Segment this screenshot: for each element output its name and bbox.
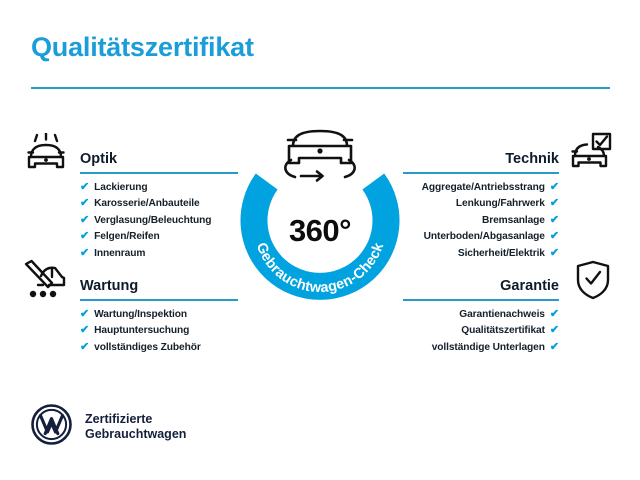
list-item: Sicherheit/Elektrik ✔ <box>422 245 559 262</box>
list-item-label: Verglasung/Beleuchtung <box>94 215 211 226</box>
shield-check-icon <box>576 260 610 305</box>
section-wartung: Wartung ✔ Wartung/Inspektion ✔ Hauptunte… <box>80 272 238 298</box>
check-icon: ✔ <box>550 198 559 209</box>
certificate-page: Qualitätszertifikat <box>0 0 640 480</box>
list-item-label: vollständiges Zubehör <box>94 342 201 353</box>
list-item-label: Wartung/Inspektion <box>94 309 187 320</box>
checklist-optik: ✔ Lackierung ✔ Karosserie/Anbauteile ✔ V… <box>80 179 211 262</box>
section-header: Technik <box>403 145 559 171</box>
check-icon: ✔ <box>80 248 89 259</box>
section-divider <box>80 172 238 174</box>
list-item: ✔ Wartung/Inspektion <box>80 306 201 323</box>
car-service-dipstick-icon <box>22 259 68 306</box>
car-checkbox-icon <box>567 132 613 179</box>
section-divider <box>80 299 238 301</box>
check-icon: ✔ <box>80 215 89 226</box>
check-icon: ✔ <box>550 231 559 242</box>
check-icon: ✔ <box>80 309 89 320</box>
check-icon: ✔ <box>550 325 559 336</box>
list-item: ✔ Hauptuntersuchung <box>80 323 201 340</box>
header-divider <box>31 87 610 89</box>
list-item-label: Bremsanlage <box>482 215 545 226</box>
list-item-label: Innenraum <box>94 248 145 259</box>
section-header: Wartung <box>80 272 238 298</box>
badge-360-gebrauchtwagen-check: Gebrauchtwagen-Check <box>230 118 410 308</box>
check-icon: ✔ <box>550 342 559 353</box>
check-icon: ✔ <box>80 342 89 353</box>
list-item: Aggregate/Antriebsstrang ✔ <box>422 179 559 196</box>
check-icon: ✔ <box>550 248 559 259</box>
list-item: ✔ Karosserie/Anbauteile <box>80 196 211 213</box>
page-title: Qualitätszertifikat <box>31 32 254 63</box>
list-item: ✔ vollständiges Zubehör <box>80 339 201 356</box>
check-icon: ✔ <box>550 215 559 226</box>
section-optik: Optik ✔ Lackierung ✔ Karosserie/Anbautei… <box>80 145 238 171</box>
section-header: Optik <box>80 145 238 171</box>
section-divider <box>403 299 559 301</box>
section-title-wartung: Wartung <box>80 278 138 294</box>
checklist-technik: Aggregate/Antriebsstrang ✔ Lenkung/Fahrw… <box>422 179 559 262</box>
check-icon: ✔ <box>80 325 89 336</box>
list-item-label: Felgen/Reifen <box>94 231 160 242</box>
checklist-garantie: Garantienachweis ✔ Qualitätszertifikat ✔… <box>432 306 559 356</box>
checklist-wartung: ✔ Wartung/Inspektion ✔ Hauptuntersuchung… <box>80 306 201 356</box>
list-item-label: Aggregate/Antriebsstrang <box>422 182 545 193</box>
section-title-technik: Technik <box>505 151 559 167</box>
check-icon: ✔ <box>80 198 89 209</box>
check-icon: ✔ <box>80 231 89 242</box>
section-title-optik: Optik <box>80 151 117 167</box>
volkswagen-logo <box>31 404 72 450</box>
list-item-label: Garantienachweis <box>459 309 545 320</box>
section-header: Garantie <box>403 272 559 298</box>
section-divider <box>403 172 559 174</box>
car-front-lights-icon <box>24 133 68 178</box>
list-item: ✔ Innenraum <box>80 245 211 262</box>
list-item-label: Qualitätszertifikat <box>461 325 545 336</box>
check-icon: ✔ <box>550 309 559 320</box>
list-item: ✔ Lackierung <box>80 179 211 196</box>
badge-center-label: 360° <box>230 213 410 249</box>
list-item-label: vollständige Unterlagen <box>432 342 545 353</box>
list-item: Unterboden/Abgasanlage ✔ <box>422 229 559 246</box>
footer-line-1: Zertifizierte <box>85 412 186 428</box>
footer-line-2: Gebrauchtwagen <box>85 427 186 443</box>
list-item-label: Sicherheit/Elektrik <box>458 248 545 259</box>
list-item: Qualitätszertifikat ✔ <box>432 323 559 340</box>
list-item: ✔ Verglasung/Beleuchtung <box>80 212 211 229</box>
list-item-label: Karosserie/Anbauteile <box>94 198 199 209</box>
footer-brand-text: Zertifizierte Gebrauchtwagen <box>85 412 186 443</box>
check-icon: ✔ <box>550 182 559 193</box>
footer-brand: Zertifizierte Gebrauchtwagen <box>31 404 186 450</box>
section-garantie: Garantie Garantienachweis ✔ Qualitätszer… <box>403 272 559 298</box>
section-technik: Technik Aggregate/Antriebsstrang ✔ Lenku… <box>403 145 559 171</box>
list-item-label: Hauptuntersuchung <box>94 325 189 336</box>
list-item: Garantienachweis ✔ <box>432 306 559 323</box>
list-item: vollständige Unterlagen ✔ <box>432 339 559 356</box>
list-item: ✔ Felgen/Reifen <box>80 229 211 246</box>
check-icon: ✔ <box>80 182 89 193</box>
section-title-garantie: Garantie <box>500 278 559 294</box>
car-rotate-icon <box>285 131 354 181</box>
list-item-label: Unterboden/Abgasanlage <box>424 231 545 242</box>
list-item-label: Lackierung <box>94 182 147 193</box>
list-item: Bremsanlage ✔ <box>422 212 559 229</box>
list-item-label: Lenkung/Fahrwerk <box>456 198 545 209</box>
list-item: Lenkung/Fahrwerk ✔ <box>422 196 559 213</box>
